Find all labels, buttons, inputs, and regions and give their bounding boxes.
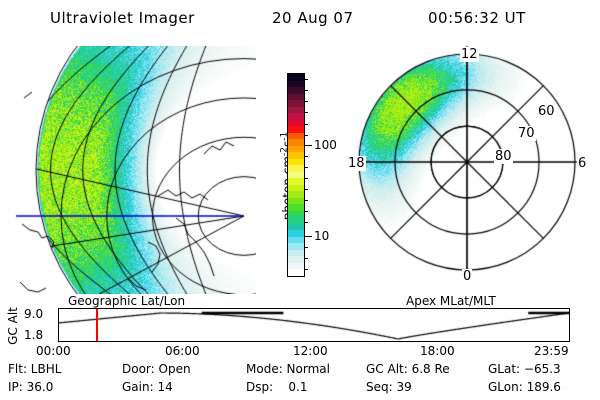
mlt-label-12: 12: [460, 47, 479, 62]
status-field-glat: GLat: −65.3: [488, 362, 561, 376]
mlt-label-6: 6: [577, 156, 587, 171]
colorbar-minor-tick: [304, 189, 308, 190]
colorbar-tick-label: 10: [314, 229, 329, 243]
status-field-gain: Gain: 14: [122, 380, 173, 394]
status-field-dsp: Dsp: 0.1: [246, 380, 308, 394]
status-field-glon: GLon: 189.6: [488, 380, 561, 394]
colorbar-tick-marks: [304, 73, 312, 277]
status-field-ip: IP: 36.0: [8, 380, 53, 394]
observation-date: 20 Aug 07: [272, 9, 354, 27]
colorbar-minor-tick: [304, 247, 308, 248]
colorbar-gradient: [287, 73, 305, 277]
current-time-marker[interactable]: [96, 309, 98, 341]
colorbar-major-tick: [304, 236, 312, 237]
orbit-plot-box[interactable]: [58, 308, 570, 342]
geographic-image-panel[interactable]: [8, 46, 256, 294]
orbit-altitude-curve: [59, 309, 569, 341]
orbit-altitude-strip[interactable]: GC Alt 9.01.8: [0, 306, 600, 346]
mlt-label-18: 18: [347, 156, 366, 171]
colorbar-tick-label: 100: [314, 138, 337, 152]
time-axis-label: 06:00: [165, 344, 200, 358]
uvi-viewer-window: Ultraviolet Imager 20 Aug 07 00:56:32 UT…: [0, 0, 600, 400]
mlat-ring-label-80: 80: [494, 149, 513, 164]
colorbar-minor-tick: [304, 178, 308, 179]
status-field-mode: Mode: Normal: [246, 362, 330, 376]
observation-time: 00:56:32 UT: [428, 9, 526, 27]
colorbar-minor-tick: [304, 167, 308, 168]
instrument-title: Ultraviolet Imager: [50, 9, 195, 27]
colorbar-group: photon cm-2s-1 10010: [258, 60, 328, 292]
colorbar-minor-tick: [304, 135, 308, 136]
colorbar-minor-tick: [304, 200, 308, 201]
colorbar-minor-tick: [304, 101, 308, 102]
mlt-label-0: 0: [462, 269, 472, 284]
colorbar-minor-tick: [304, 156, 308, 157]
colorbar-minor-tick: [304, 112, 308, 113]
apex-polar-panel[interactable]: [340, 40, 596, 296]
mlat-ring-label-60: 60: [537, 104, 556, 119]
time-axis-label: 12:00: [293, 344, 328, 358]
colorbar-minor-tick: [304, 124, 308, 125]
mlat-ring-label-70: 70: [517, 126, 536, 141]
status-field-flt: Flt: LBHL: [8, 362, 61, 376]
status-readout-block: Flt: LBHLDoor: OpenMode: NormalGC Alt: 6…: [0, 362, 600, 400]
header-bar: Ultraviolet Imager 20 Aug 07 00:56:32 UT: [0, 6, 600, 32]
colorbar-step: [288, 269, 304, 276]
colorbar-minor-tick: [304, 211, 308, 212]
geographic-aurora-canvas: [8, 46, 256, 294]
orbit-y-tick-label: 1.8: [24, 328, 43, 342]
status-field-door: Door: Open: [122, 362, 191, 376]
colorbar-minor-tick: [304, 258, 308, 259]
orbit-time-axis: 00:0006:0012:0018:0023:59: [0, 344, 600, 360]
time-axis-label: 00:00: [36, 344, 71, 358]
colorbar-major-tick: [304, 145, 312, 146]
colorbar-minor-tick: [304, 269, 308, 270]
orbit-y-tick-label: 9.0: [24, 307, 43, 321]
colorbar-minor-tick: [304, 90, 308, 91]
time-axis-label: 23:59: [534, 344, 569, 358]
time-axis-label: 18:00: [420, 344, 455, 358]
status-field-gc-alt: GC Alt: 6.8 Re: [366, 362, 450, 376]
polar-aurora-canvas: [340, 40, 596, 296]
status-field-seq: Seq: 39: [366, 380, 412, 394]
colorbar-minor-tick: [304, 222, 308, 223]
colorbar-minor-tick: [304, 79, 308, 80]
